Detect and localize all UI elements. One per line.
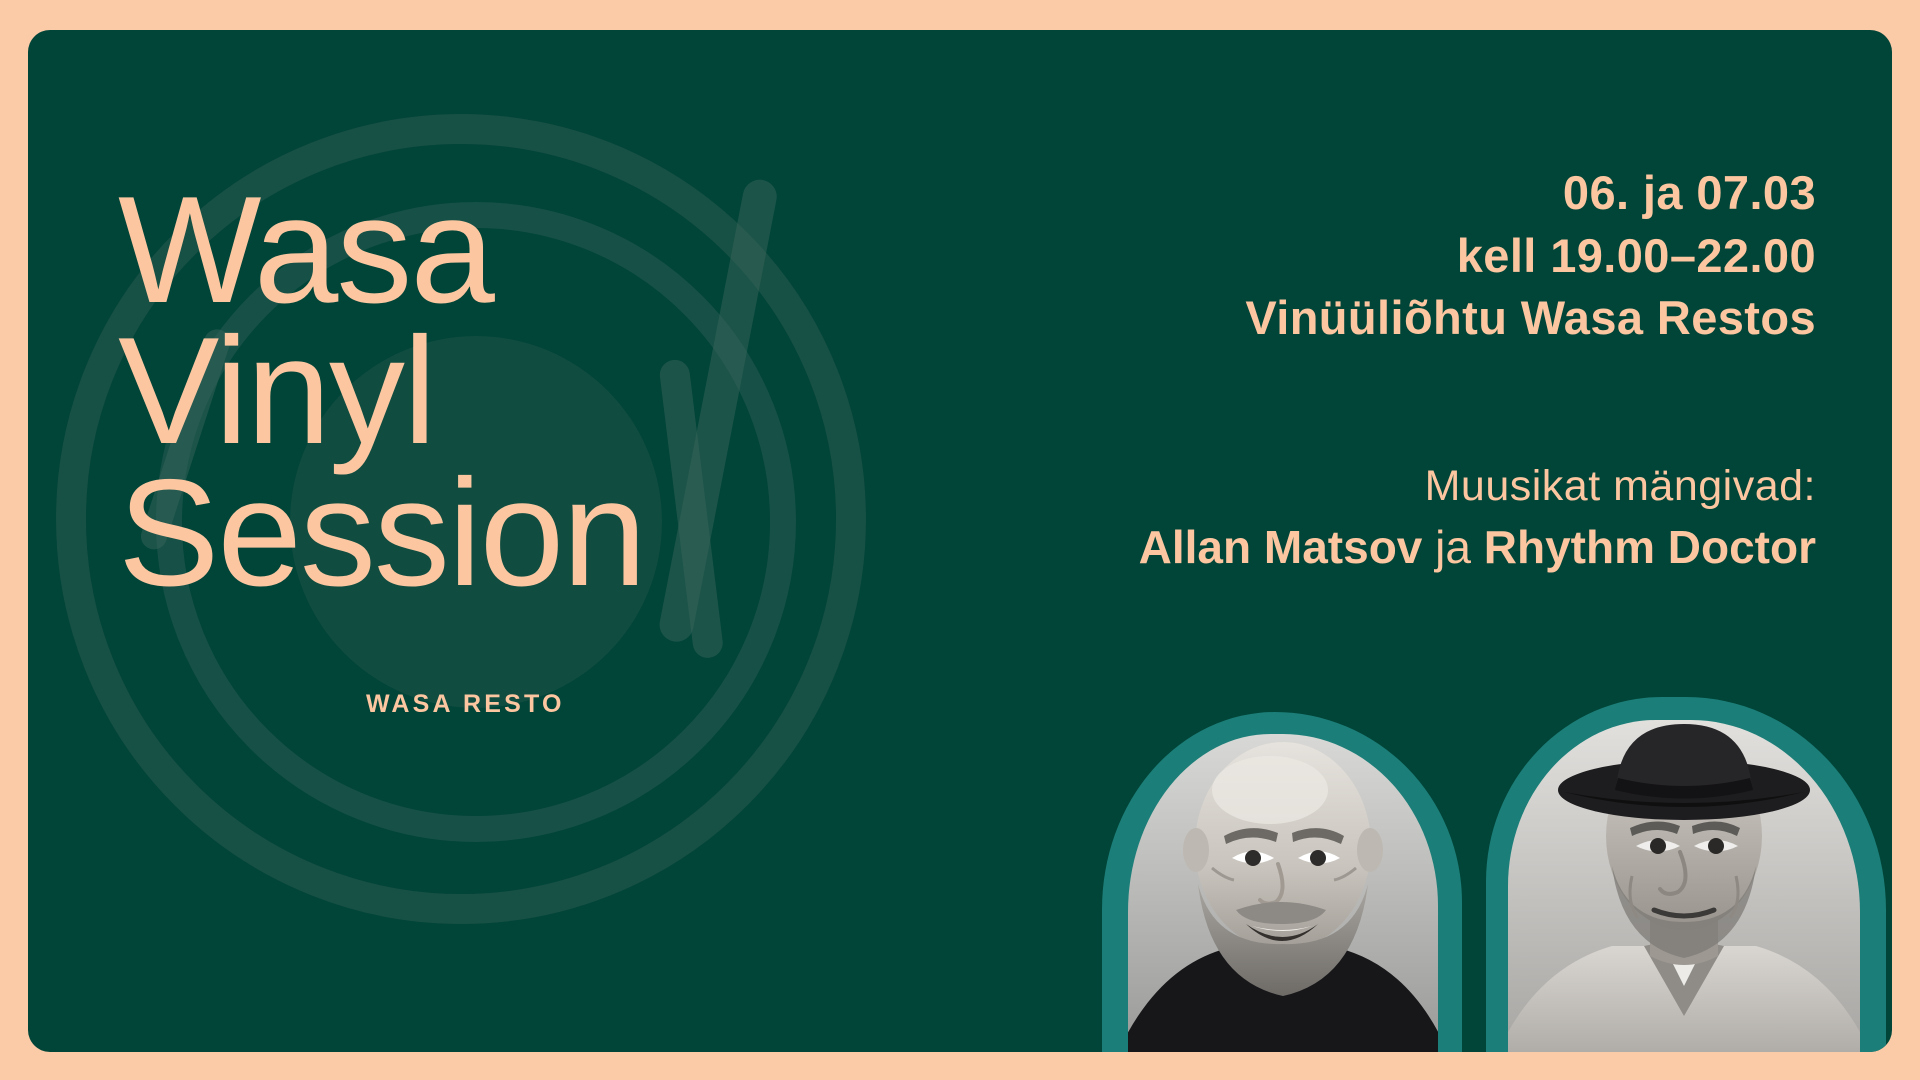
portrait-allan-matsov	[1102, 712, 1462, 1052]
performer-portraits	[1092, 692, 1892, 1052]
event-title: Wasa Vinyl Session WASA RESTO	[118, 180, 878, 719]
credits-conjunction: ja	[1435, 521, 1471, 573]
artist-name-1: Allan Matsov	[1139, 521, 1423, 573]
portrait-rhythm-doctor	[1482, 697, 1882, 1052]
credits-label: Muusikat mängivad:	[956, 460, 1816, 514]
poster-panel: Wasa Vinyl Session WASA RESTO 06. ja 07.…	[28, 30, 1892, 1052]
artist-name-2: Rhythm Doctor	[1484, 521, 1816, 573]
credits-artists: Allan Matsov ja Rhythm Doctor	[956, 519, 1816, 577]
event-description: Vinüüliõhtu Wasa Restos	[956, 287, 1816, 350]
event-dates: 06. ja 07.03	[956, 162, 1816, 225]
title-line-3: Session	[118, 463, 878, 604]
venue-tagline: WASA RESTO	[366, 690, 878, 719]
event-info-column: 06. ja 07.03 kell 19.00–22.00 Vinüüliõht…	[956, 162, 1816, 577]
title-line-1: Wasa	[118, 180, 878, 321]
title-line-2: Vinyl	[118, 321, 878, 462]
event-time: kell 19.00–22.00	[956, 225, 1816, 288]
poster-canvas: Wasa Vinyl Session WASA RESTO 06. ja 07.…	[0, 0, 1920, 1080]
performer-credits: Muusikat mängivad: Allan Matsov ja Rhyth…	[956, 460, 1816, 577]
